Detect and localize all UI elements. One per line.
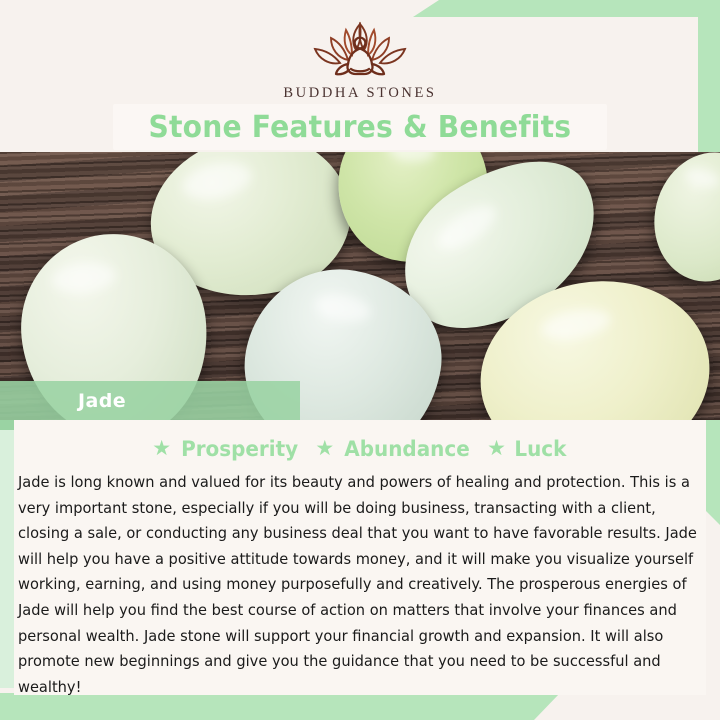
star-icon: ★ (152, 438, 171, 459)
title-banner: Stone Features & Benefits (113, 104, 607, 150)
stone-features-infographic: BUDDHA STONES Stone Features & Benefits … (0, 0, 720, 720)
stone-photo (0, 152, 720, 420)
content-panel: ★ Prosperity ★ Abundance ★ Luck Jade is … (14, 420, 706, 695)
lotus-meditation-icon (301, 18, 419, 80)
benefit-item: ★ Prosperity (152, 437, 301, 461)
stone-caption-band: Jade (0, 381, 300, 420)
benefits-row: ★ Prosperity ★ Abundance ★ Luck (14, 430, 706, 468)
benefit-item: ★ Abundance (315, 437, 473, 461)
benefit-label: Prosperity (181, 437, 298, 461)
star-icon: ★ (315, 438, 334, 459)
star-icon: ★ (487, 438, 506, 459)
stone-name-label: Jade (78, 390, 126, 412)
decoration-left-lower-green-band (0, 430, 14, 688)
brand-logo: BUDDHA STONES (283, 18, 436, 102)
benefit-label: Abundance (344, 437, 469, 461)
stone-description: Jade is long known and valued for its be… (18, 470, 709, 700)
page-title: Stone Features & Benefits (149, 110, 572, 145)
benefit-label: Luck (514, 437, 566, 461)
brand-name: BUDDHA STONES (283, 85, 436, 102)
benefit-item: ★ Luck (487, 437, 568, 461)
